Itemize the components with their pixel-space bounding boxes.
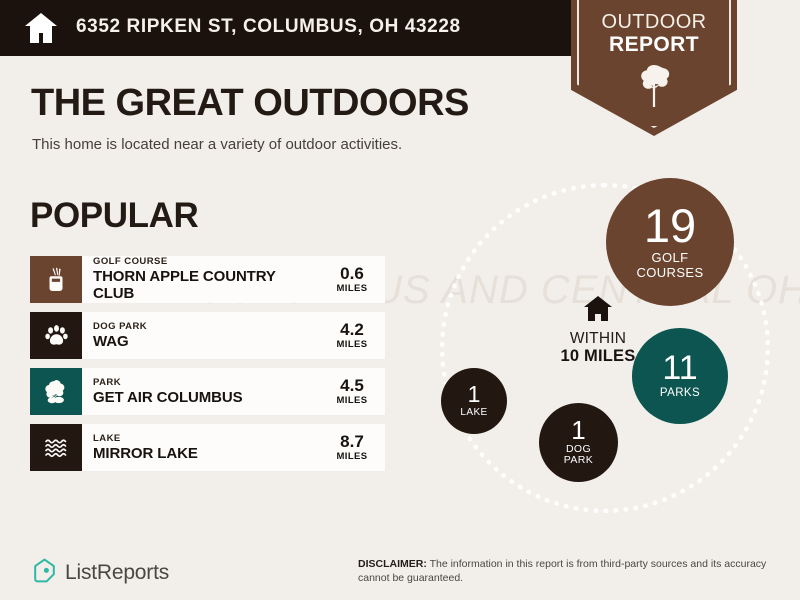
listreports-wordmark: ListReports: [65, 561, 169, 585]
listreports-logo-icon: [33, 558, 56, 588]
bubble-label-line2: COURSES: [636, 266, 703, 281]
popular-list: GOLF COURSE THORN APPLE COUNTRY CLUB 0.6…: [30, 256, 385, 480]
golf-bag-icon: [30, 256, 82, 303]
distance-unit: MILES: [336, 395, 367, 406]
list-item-name: GET AIR COLUMBUS: [93, 389, 319, 406]
distance-value: 0.6: [340, 265, 364, 283]
list-item[interactable]: PARK GET AIR COLUMBUS 4.5 MILES: [30, 368, 385, 415]
list-item[interactable]: GOLF COURSE THORN APPLE COUNTRY CLUB 0.6…: [30, 256, 385, 303]
header-bar: 6352 RIPKEN ST, COLUMBUS, OH 43228: [0, 0, 586, 56]
list-item-distance: 8.7 MILES: [319, 424, 385, 471]
distance-unit: MILES: [336, 451, 367, 462]
list-item-distance: 0.6 MILES: [319, 256, 385, 303]
list-item-name: THORN APPLE COUNTRY CLUB: [93, 268, 319, 303]
house-icon: [583, 295, 613, 322]
page-title: THE GREAT OUTDOORS: [31, 82, 469, 125]
bubble-label-line2: PARK: [564, 455, 593, 467]
bubble-golf-courses[interactable]: 19 GOLF COURSES: [606, 178, 734, 306]
bubble-parks[interactable]: 11 PARKS: [632, 328, 728, 424]
tree-icon: [30, 368, 82, 415]
page-subtitle: This home is located near a variety of o…: [32, 136, 402, 153]
distance-unit: MILES: [336, 283, 367, 294]
disclaimer-label: DISCLAIMER:: [358, 558, 427, 570]
section-title-popular: POPULAR: [30, 196, 198, 236]
distance-value: 8.7: [340, 433, 364, 451]
property-address: 6352 RIPKEN ST, COLUMBUS, OH 43228: [76, 16, 461, 38]
list-item-distance: 4.2 MILES: [319, 312, 385, 359]
list-item-name: MIRROR LAKE: [93, 445, 319, 462]
bubble-label-line1: LAKE: [460, 407, 487, 418]
distance-value: 4.2: [340, 321, 364, 339]
bubble-count: 1: [571, 418, 585, 443]
bubble-count: 11: [662, 352, 697, 384]
outdoor-report-badge: OUTDOOR REPORT: [571, 0, 737, 136]
paw-icon: [30, 312, 82, 359]
distance-unit: MILES: [336, 339, 367, 350]
list-item-category: DOG PARK: [93, 321, 319, 333]
list-item-distance: 4.5 MILES: [319, 368, 385, 415]
distance-value: 4.5: [340, 377, 364, 395]
outdoor-report-page: COLUMBUS AND CENTRAL OHIO REGIONAL MLS 6…: [0, 0, 800, 600]
list-item[interactable]: LAKE MIRROR LAKE 8.7 MILES: [30, 424, 385, 471]
waves-icon: [30, 424, 82, 471]
bubble-count: 19: [644, 204, 696, 249]
list-item-name: WAG: [93, 333, 319, 350]
badge-border: [577, 0, 731, 128]
bubble-label-line1: PARKS: [660, 387, 700, 400]
list-item-category: LAKE: [93, 433, 319, 445]
nearby-counts-diagram: WITHIN 10 MILES 19 GOLF COURSES 11 PARKS…: [420, 165, 780, 525]
disclaimer: DISCLAIMER: The information in this repo…: [358, 557, 788, 586]
list-item[interactable]: DOG PARK WAG 4.2 MILES: [30, 312, 385, 359]
list-item-category: PARK: [93, 377, 319, 389]
center-line2: 10 MILES: [561, 347, 636, 365]
center-line1: WITHIN: [570, 330, 626, 347]
house-icon: [24, 12, 58, 44]
bubble-count: 1: [468, 384, 481, 406]
bubble-dog-park[interactable]: 1 DOG PARK: [539, 403, 618, 482]
bubble-label-line1: GOLF: [652, 251, 689, 266]
list-item-category: GOLF COURSE: [93, 256, 319, 268]
bubble-lake[interactable]: 1 LAKE: [441, 368, 507, 434]
listreports-logo[interactable]: ListReports: [33, 558, 169, 588]
